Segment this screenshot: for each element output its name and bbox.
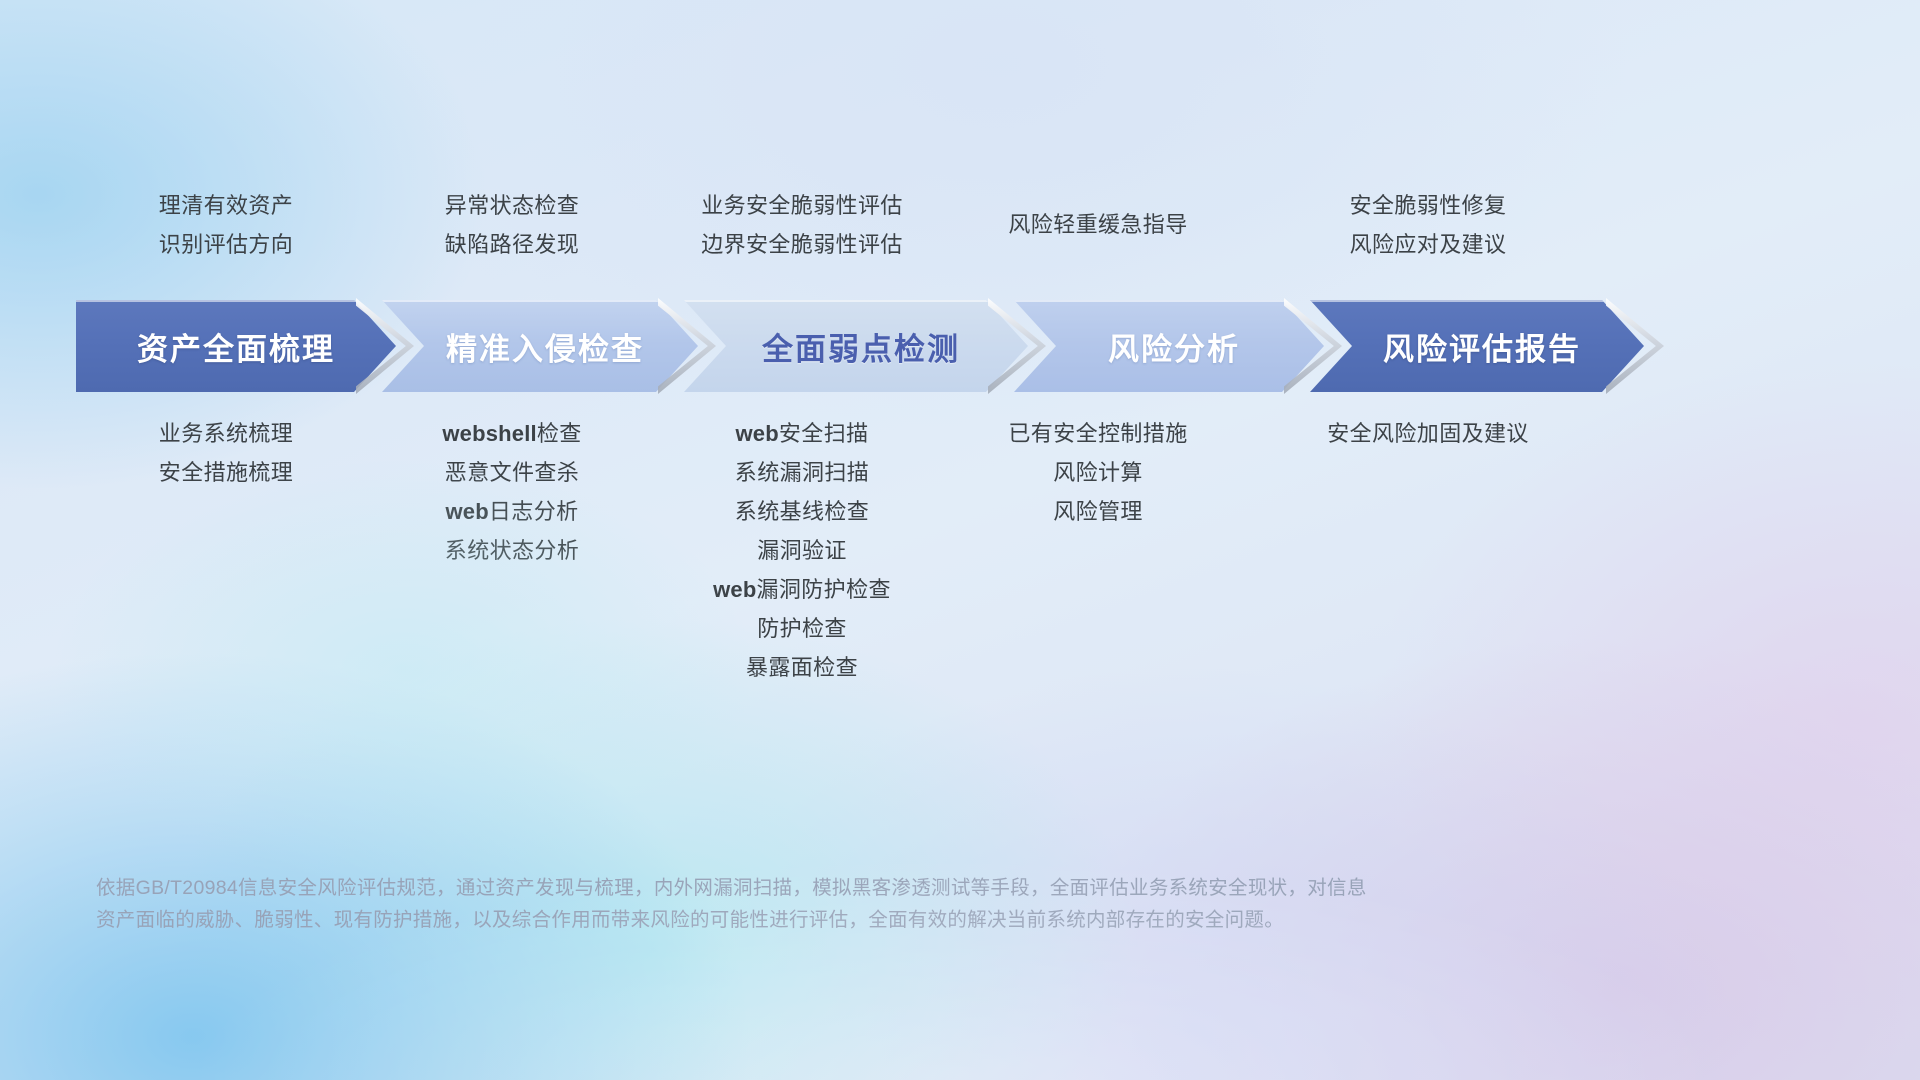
footer-note-line-1: 依据GB/T20984信息安全风险评估规范，通过资产发现与梳理，内外网漏洞扫描，… [96,872,1636,904]
stage-5-bottom-list: 安全风险加固及建议 [1258,414,1598,453]
list-item: 风险轻重缓急指导 [948,186,1248,264]
list-item: 识别评估方向 [76,225,376,264]
list-item-text: 暴露面检查 [746,655,858,680]
stage-3-bottom-list: web安全扫描 系统漏洞扫描 系统基线检查 漏洞验证 web漏洞防护检查 防护检… [642,414,962,687]
list-item-text: 漏洞验证 [757,538,847,563]
list-item: web安全扫描 [642,414,962,453]
list-item: 安全措施梳理 [76,453,376,492]
chevron-label: 风险评估报告 [1310,324,1644,369]
list-item-text: 风险管理 [1053,499,1143,524]
footer-note-line-2: 资产面临的威胁、脆弱性、现有防护措施，以及综合作用而带来风险的可能性进行评估，全… [96,904,1636,936]
list-item: web漏洞防护检查 [642,570,962,609]
chevron-stage-1[interactable]: 资产全面梳理 [76,300,396,392]
list-item: 业务安全脆弱性评估 [642,186,962,225]
list-item-bold: webshell [442,421,537,446]
chevron-label: 精准入侵检查 [382,324,698,369]
chevron-label: 全面弱点检测 [684,324,1028,369]
list-item-bold: web [736,421,779,446]
list-item-text: 业务系统梳理 [159,421,293,446]
list-item: 系统漏洞扫描 [642,453,962,492]
list-item-text: 安全扫描 [779,421,869,446]
list-item-text: 安全措施梳理 [159,460,293,485]
list-item: 系统基线检查 [642,492,962,531]
list-item: 边界安全脆弱性评估 [642,225,962,264]
list-item-text: 恶意文件查杀 [445,460,579,485]
footer-note: 依据GB/T20984信息安全风险评估规范，通过资产发现与梳理，内外网漏洞扫描，… [96,872,1636,936]
stage-2-bottom-list: webshell检查 恶意文件查杀 web日志分析 系统状态分析 [362,414,662,570]
stage-4-top-list: 风险轻重缓急指导 [948,186,1248,264]
process-chevron-band: 资产全面梳理 精准入侵检查 全面弱点检测 风险分析 风险评估报告 [0,300,1920,392]
list-item-text: 系统漏洞扫描 [735,460,869,485]
list-item-text: 安全风险加固及建议 [1327,421,1529,446]
list-item: 业务系统梳理 [76,414,376,453]
list-item-text: 系统基线检查 [735,499,869,524]
list-item-text: 已有安全控制措施 [1008,421,1187,446]
list-item-text: 检查 [537,421,582,446]
list-item-text: 防护检查 [757,616,847,641]
chevron-stage-4[interactable]: 风险分析 [1014,300,1324,392]
chevron-stage-2[interactable]: 精准入侵检查 [382,300,698,392]
chevron-stage-3[interactable]: 全面弱点检测 [684,300,1028,392]
stage-3-top-list: 业务安全脆弱性评估 边界安全脆弱性评估 [642,186,962,264]
list-item: 系统状态分析 [362,531,662,570]
list-item: 防护检查 [642,609,962,648]
chevron-label: 风险分析 [1014,324,1324,369]
list-item: 缺陷路径发现 [362,225,662,264]
list-item: 恶意文件查杀 [362,453,662,492]
list-item-text: 漏洞防护检查 [756,577,890,602]
list-item: 安全风险加固及建议 [1258,414,1598,453]
list-item-bold: web [713,577,756,602]
list-item: 漏洞验证 [642,531,962,570]
stage-1-top-list: 理清有效资产 识别评估方向 [76,186,376,264]
stage-1-bottom-list: 业务系统梳理 安全措施梳理 [76,414,376,492]
list-item: 已有安全控制措施 [948,414,1248,453]
stage-2-top-list: 异常状态检查 缺陷路径发现 [362,186,662,264]
list-item: 安全脆弱性修复 [1258,186,1598,225]
list-item: 理清有效资产 [76,186,376,225]
list-item: 风险计算 [948,453,1248,492]
list-item-text: 风险计算 [1053,460,1143,485]
diagram-canvas: 理清有效资产 识别评估方向 业务系统梳理 安全措施梳理 异常状态检查 缺陷路径发… [0,0,1920,1080]
list-item: web日志分析 [362,492,662,531]
list-item: 风险应对及建议 [1258,225,1598,264]
list-item-text: 系统状态分析 [445,538,579,563]
list-item: 异常状态检查 [362,186,662,225]
stage-5-top-list: 安全脆弱性修复 风险应对及建议 [1258,186,1598,264]
list-item: 暴露面检查 [642,648,962,687]
list-item-text: 日志分析 [489,499,579,524]
chevron-label: 资产全面梳理 [76,324,396,369]
chevron-stage-5[interactable]: 风险评估报告 [1310,300,1644,392]
stage-4-bottom-list: 已有安全控制措施 风险计算 风险管理 [948,414,1248,531]
list-item: 风险管理 [948,492,1248,531]
list-item-bold: web [446,499,489,524]
list-item: webshell检查 [362,414,662,453]
